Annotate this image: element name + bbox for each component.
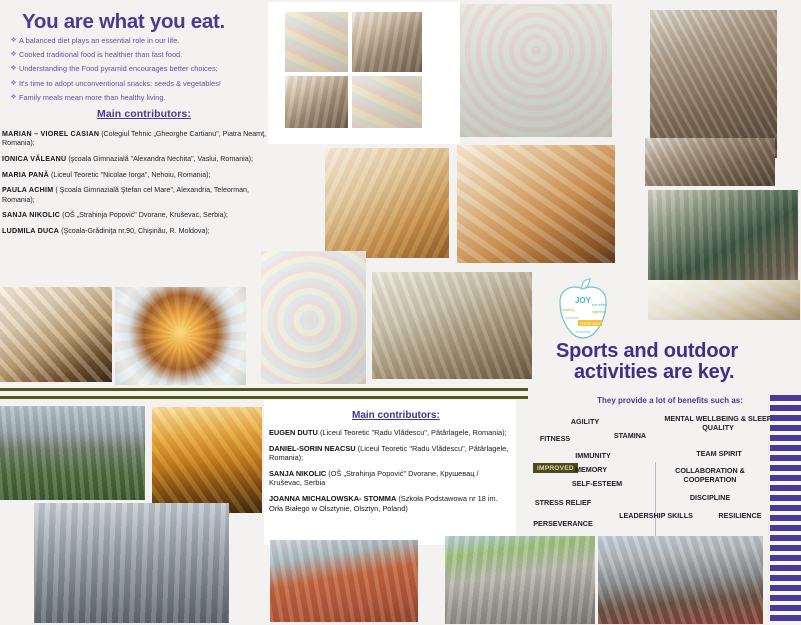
benefit-self-esteem: SELF-ESTEEM [561, 479, 633, 488]
svg-text:benefits: benefits [592, 302, 606, 307]
svg-text:JOY: JOY [575, 296, 592, 305]
divider-line-top [0, 388, 528, 391]
contributor-entry: PAULA ACHIM ( Şcoala Gimnazială Ştefan c… [2, 186, 268, 204]
page-title: You are what you eat. [22, 10, 225, 34]
photo-kids-food-pyramid-poster [460, 4, 612, 137]
photo-playground-exercise [445, 536, 595, 624]
bottom-contributors-heading: Main contributors: [352, 410, 440, 421]
contributor-name: DANIEL-SORIN NEACSU [269, 444, 356, 453]
contributor-entry: SANJA NIKOLIC (OŠ „Strahinja Popović" Dv… [269, 469, 513, 488]
photo-table-display [648, 280, 800, 320]
contributor-name: LUDMILA DUCA [2, 227, 59, 235]
photo-nuts-seeds-bags [0, 287, 112, 382]
contributor-entry: JOANNA MICHALOWSKA- STOMMA (Szkoła Podst… [269, 494, 513, 513]
sports-title-line2: activities are key. [574, 361, 734, 384]
contributor-affiliation: (OŠ „Strahinja Popović" Dvorane, Kruševa… [62, 211, 228, 219]
photo-fridge-food-pyramid [261, 251, 366, 384]
bullet-text: A balanced diet plays an essential role … [19, 35, 179, 46]
benefit-agility: AGILITY [549, 417, 621, 426]
contributor-entry: MARIA PANĂ (Liceul Teoretic "Nicolae Ior… [2, 171, 268, 180]
contributor-name: MARIAN – VIOREL CASIAN [2, 130, 99, 138]
diet-bullet-list: ❖ A balanced diet plays an essential rol… [8, 35, 266, 106]
benefit-team-spirit: TEAM SPIRIT [683, 449, 755, 458]
contributor-entry: IONICA VĂLEANU (şcoala Gimnazială "Alexa… [2, 155, 268, 164]
list-item: ❖ Family meals mean more than healthy li… [8, 92, 266, 103]
bullet-text: Cooked traditional food is healthier tha… [19, 49, 182, 60]
benefit-perseverance: PERSEVERANCE [524, 519, 602, 528]
photo-classroom-lesson [372, 272, 532, 379]
bottom-contributors-list: EUGEN DUTU (Liceul Teoretic "Radu Vlădes… [269, 428, 513, 519]
contributor-entry: DANIEL-SORIN NEACSU (Liceul Teoretic "Ra… [269, 444, 513, 463]
benefit-stamina: STAMINA [598, 431, 662, 440]
photo-tennis-court [270, 540, 418, 622]
bullet-text: Family meals mean more than healthy livi… [19, 92, 166, 103]
contributor-affiliation: (Liceul Teoretic "Nicolae Iorga", Nehoiu… [51, 171, 210, 179]
benefit-immunity: IMMUNITY [561, 451, 625, 460]
diamond-bullet-icon: ❖ [8, 92, 19, 103]
apple-word-cloud-logo: JOY healthy benefits together nutrition … [548, 276, 618, 342]
contributor-entry: MARIAN – VIOREL CASIAN (Colegiul Tehnic … [2, 130, 268, 148]
photo-fruit-plate [115, 287, 246, 385]
diamond-bullet-icon: ❖ [8, 35, 19, 46]
contributor-name: MARIA PANĂ [2, 171, 49, 179]
contributor-name: EUGEN DUTU [269, 428, 318, 437]
photo-outdoor-dance [34, 503, 229, 623]
top-contributors-heading: Main contributors: [97, 108, 191, 120]
benefits-divider [655, 462, 656, 540]
photo-school-hall-crowd [650, 10, 777, 158]
list-item: ❖ A balanced diet plays an essential rol… [8, 35, 266, 46]
contributor-name: IONICA VĂLEANU [2, 155, 66, 163]
contributor-name: SANJA NIKOLIC [2, 211, 60, 219]
benefit-leadership-skills: LEADERSHIP SKILLS [615, 511, 697, 520]
contributor-name: SANJA NIKOLIC [269, 469, 326, 478]
diamond-bullet-icon: ❖ [8, 49, 19, 60]
photo-autumn-walk [152, 407, 262, 513]
list-item: ❖ It's time to adopt unconventional snac… [8, 78, 266, 89]
benefit-discipline: DISCIPLINE [672, 493, 748, 502]
svg-text:healthy: healthy [562, 307, 575, 312]
sports-subtitle: They provide a lot of benefits such as: [560, 396, 780, 405]
bullet-text: It's time to adopt unconventional snacks… [19, 78, 221, 89]
photo-poster-wall [352, 76, 422, 128]
contributor-affiliation: (şcoala Gimnazială "Alexandra Nechita", … [68, 155, 253, 163]
svg-text:eTwinning: eTwinning [576, 330, 591, 334]
benefit-collaboration: COLLABORATION & COOPERATION [660, 466, 760, 484]
top-contributors-list: MARIAN – VIOREL CASIAN (Colegiul Tehnic … [2, 130, 268, 243]
photo-schoolyard-run [0, 406, 145, 500]
contributor-affiliation: (Şcoala-Grădiniţa nr.90, Chişinău, R. Mo… [61, 227, 210, 235]
photo-students-posters-table [285, 12, 348, 72]
diamond-bullet-icon: ❖ [8, 78, 19, 89]
photo-three-students-diplomas [285, 76, 348, 128]
list-item: ❖ Understanding the Food pyramid encoura… [8, 63, 266, 74]
contributor-name: JOANNA MICHALOWSKA- STOMMA [269, 494, 396, 503]
bullet-text: Understanding the Food pyramid encourage… [19, 63, 218, 74]
benefit-stress-relief: STRESS RELIEF [527, 498, 599, 507]
svg-text:together: together [592, 309, 607, 314]
photo-traditional-costume-bread [457, 145, 615, 263]
sports-title-line1: Sports and outdoor [556, 340, 738, 363]
diamond-bullet-icon: ❖ [8, 63, 19, 74]
benefit-resilience: RESILIENCE [704, 511, 776, 520]
svg-text:FOOD DAY: FOOD DAY [580, 321, 601, 326]
photo-woman-apples [325, 148, 449, 258]
poster-canvas: You are what you eat. ❖ A balanced diet … [0, 0, 801, 625]
benefit-fitness: FITNESS [524, 434, 586, 443]
benefit-mental-wellbeing: MENTAL WELLBEING & SLEEP QUALITY [663, 414, 773, 432]
contributor-entry: EUGEN DUTU (Liceul Teoretic "Radu Vlădes… [269, 428, 513, 438]
list-item: ❖ Cooked traditional food is healthier t… [8, 49, 266, 60]
right-edge-stripe-pattern [770, 395, 801, 625]
svg-text:nutrition: nutrition [565, 315, 579, 320]
contributor-entry: SANJA NIKOLIC (OŠ „Strahinja Popović" Dv… [2, 211, 268, 220]
contributor-name: PAULA ACHIM [2, 186, 53, 194]
contributor-affiliation: (Liceul Teoretic "Radu Vlădescu", Pătârl… [320, 428, 507, 437]
benefit-memory: MEMORY [561, 465, 621, 474]
contributor-entry: LUDMILA DUCA (Şcoala-Grădiniţa nr.90, Ch… [2, 227, 268, 236]
photo-outdoor-court-kids [598, 536, 763, 624]
photo-fair-crowd [645, 138, 775, 186]
divider-line-bottom [0, 396, 528, 399]
photo-students-diplomas [352, 12, 422, 72]
